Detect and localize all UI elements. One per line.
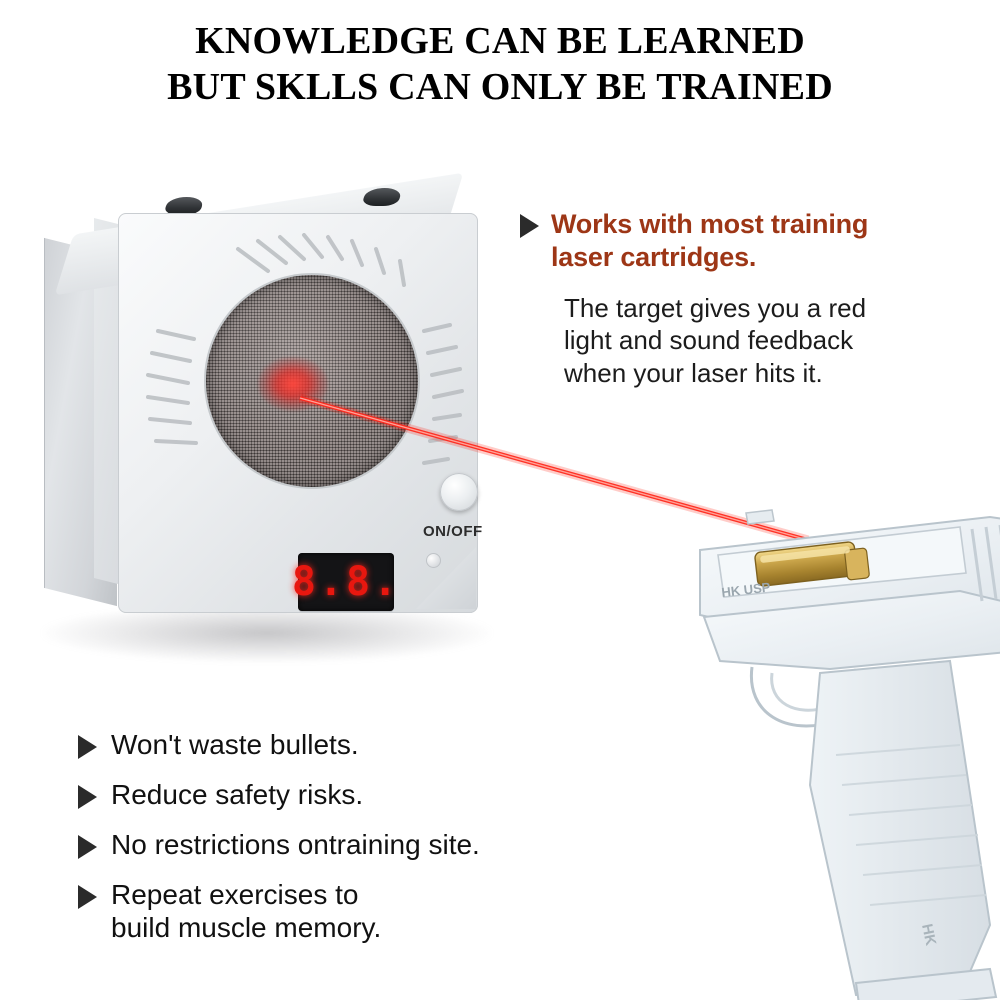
list-item: Won't waste bullets. [78, 728, 638, 761]
feature-title: Works with most training laser cartridge… [551, 208, 868, 274]
benefit-text-4-line-2: build muscle memory. [111, 912, 381, 943]
device-front-face: 8.8. ON/OFF [118, 213, 478, 613]
benefit-text-4: Repeat exercises to build muscle memory. [111, 878, 381, 944]
pistol-front-sight [746, 510, 774, 524]
feature-title-line-1: Works with most training [551, 209, 868, 239]
score-display: 8.8. [298, 553, 394, 611]
triangle-bullet-icon [78, 735, 97, 759]
list-item: Repeat exercises to build muscle memory. [78, 878, 638, 944]
benefit-text-1: Won't waste bullets. [111, 728, 359, 761]
benefit-text-4-line-1: Repeat exercises to [111, 879, 358, 910]
status-led [426, 553, 441, 568]
power-button-label: ON/OFF [423, 523, 483, 540]
benefits-list: Won't waste bullets. Reduce safety risks… [78, 728, 638, 961]
triangle-bullet-icon [520, 214, 539, 238]
speaker-grille [206, 275, 418, 487]
pistol-illustration: HK USP HK [660, 455, 1000, 1000]
benefit-text-2: Reduce safety risks. [111, 778, 363, 811]
triangle-bullet-icon [78, 835, 97, 859]
headline-line-2: BUT SKLLS CAN ONLY BE TRAINED [0, 64, 1000, 110]
power-button[interactable] [440, 473, 478, 511]
feature-body: The target gives you a red light and sou… [564, 292, 990, 390]
feature-title-line-2: laser cartridges. [551, 242, 756, 272]
feature-body-line-2: light and sound feedback [564, 325, 853, 355]
triangle-bullet-icon [78, 785, 97, 809]
list-item: Reduce safety risks. [78, 778, 638, 811]
pistol-grip [810, 661, 990, 995]
list-item: No restrictions ontraining site. [78, 828, 638, 861]
device-bevel-corner [416, 547, 476, 609]
headline-line-1: KNOWLEDGE CAN BE LEARNED [195, 20, 805, 62]
triangle-bullet-icon [78, 885, 97, 909]
benefit-text-3: No restrictions ontraining site. [111, 828, 480, 861]
feature-callout: Works with most training laser cartridge… [520, 208, 990, 389]
laser-hit-dot [258, 357, 328, 411]
feature-body-line-1: The target gives you a red [564, 293, 866, 323]
laser-target-device: 8.8. ON/OFF [34, 185, 514, 705]
page-title: KNOWLEDGE CAN BE LEARNED BUT SKLLS CAN O… [0, 18, 1000, 111]
poster-canvas: KNOWLEDGE CAN BE LEARNED BUT SKLLS CAN O… [0, 0, 1000, 1000]
feature-title-row: Works with most training laser cartridge… [520, 208, 990, 274]
feature-body-line-3: when your laser hits it. [564, 358, 823, 388]
